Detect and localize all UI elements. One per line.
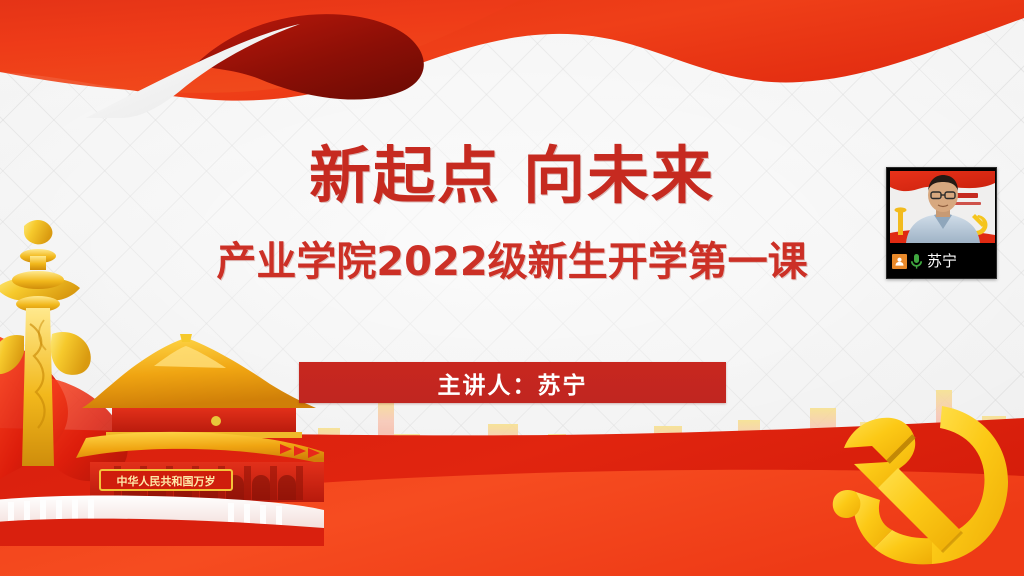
cpc-hammer-sickle-emblem bbox=[792, 392, 1020, 576]
speaker-banner-label: 主讲人：苏宁 bbox=[438, 366, 588, 400]
person-avatar-icon bbox=[892, 254, 907, 269]
top-red-ribbon bbox=[0, 0, 1024, 118]
tiananmen-gate-illustration: 中华人民共和国万岁 bbox=[0, 216, 324, 546]
participant-name: 苏宁 bbox=[927, 254, 957, 269]
microphone-icon[interactable] bbox=[910, 253, 923, 270]
participant-video-feed bbox=[890, 171, 995, 243]
video-participant-tile[interactable]: 苏宁 bbox=[886, 167, 997, 279]
gate-plaque: 中华人民共和国万岁 bbox=[100, 470, 232, 490]
gate-plaque-text: 中华人民共和国万岁 bbox=[117, 474, 216, 488]
participant-person bbox=[890, 171, 995, 243]
presentation-slide: 中华人民共和国万岁 bbox=[0, 0, 1024, 576]
speaker-banner: 主讲人：苏宁 bbox=[299, 362, 726, 403]
participant-name-bar: 苏宁 bbox=[887, 244, 997, 278]
